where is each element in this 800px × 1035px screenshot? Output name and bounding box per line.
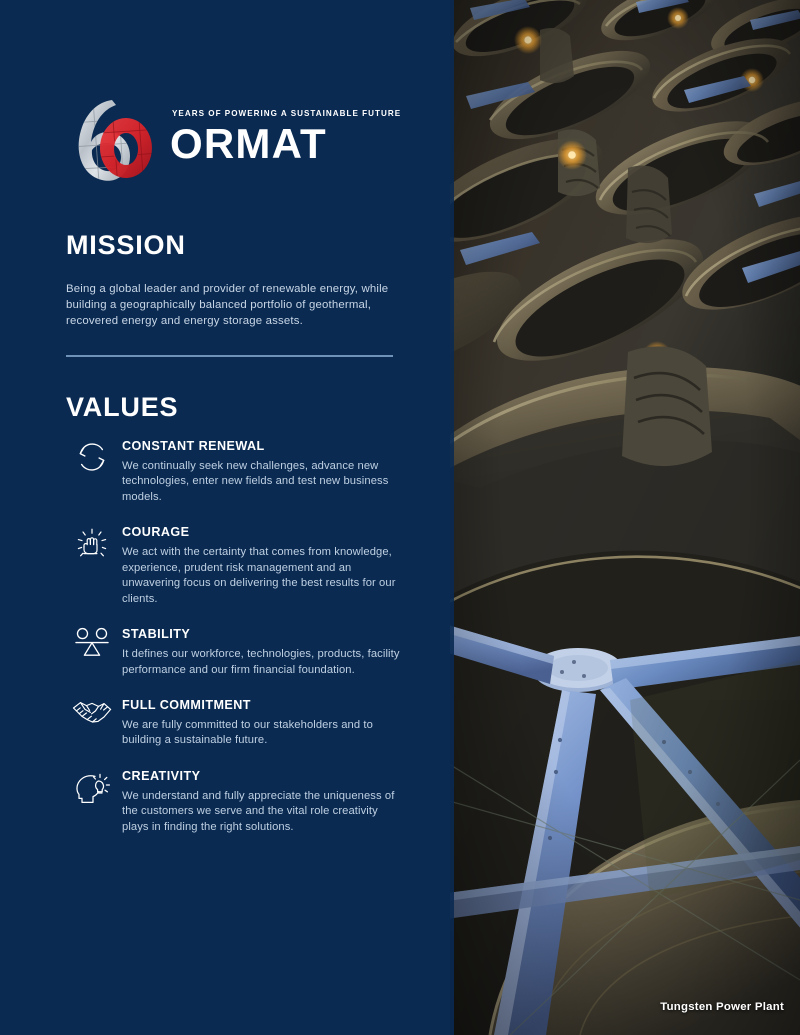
brochure-page: YEARS OF POWERING A SUSTAINABLE FUTURE O… <box>0 0 800 1035</box>
left-content-panel: YEARS OF POWERING A SUSTAINABLE FUTURE O… <box>0 0 450 1035</box>
value-title: STABILITY <box>122 628 402 641</box>
value-item-courage: COURAGE We act with the certainty that c… <box>62 522 402 607</box>
mission-heading: MISSION <box>66 232 186 259</box>
logo-wordmark: ORMAT <box>170 122 406 166</box>
values-list: CONSTANT RENEWAL We continually seek new… <box>62 436 402 852</box>
balance-scale-icon <box>62 624 122 670</box>
photo-caption: Tungsten Power Plant <box>660 1001 784 1013</box>
logo-text-block: YEARS OF POWERING A SUSTAINABLE FUTURE O… <box>170 110 406 166</box>
anniversary-60-icon <box>66 96 162 184</box>
value-body: CONSTANT RENEWAL We continually seek new… <box>122 436 402 505</box>
value-item-stability: STABILITY It defines our workforce, tech… <box>62 624 402 678</box>
value-description: We are fully committed to our stakeholde… <box>122 718 402 749</box>
head-lightbulb-icon <box>62 766 122 812</box>
value-body: COURAGE We act with the certainty that c… <box>122 522 402 607</box>
value-title: FULL COMMITMENT <box>122 699 402 712</box>
value-body: FULL COMMITMENT We are fully committed t… <box>122 695 402 749</box>
circular-arrows-icon <box>62 436 122 482</box>
value-description: We act with the certainty that comes fro… <box>122 545 402 607</box>
value-description: We understand and fully appreciate the u… <box>122 789 402 836</box>
value-item-full-commitment: FULL COMMITMENT We are fully committed t… <box>62 695 402 749</box>
handshake-icon <box>62 695 122 741</box>
ormat-logo: YEARS OF POWERING A SUSTAINABLE FUTURE O… <box>66 96 406 184</box>
values-heading: VALUES <box>66 394 178 421</box>
value-item-constant-renewal: CONSTANT RENEWAL We continually seek new… <box>62 436 402 505</box>
value-title: COURAGE <box>122 526 402 539</box>
raised-fist-icon <box>62 522 122 568</box>
value-description: We continually seek new challenges, adva… <box>122 459 402 506</box>
mission-text: Being a global leader and provider of re… <box>66 281 396 330</box>
value-body: CREATIVITY We understand and fully appre… <box>122 766 402 835</box>
value-title: CREATIVITY <box>122 770 402 783</box>
photo-illustration <box>450 0 800 1035</box>
logo-tagline: YEARS OF POWERING A SUSTAINABLE FUTURE <box>170 110 406 118</box>
cooling-tower-fans-photo: Tungsten Power Plant <box>450 0 800 1035</box>
section-divider <box>66 355 393 357</box>
value-title: CONSTANT RENEWAL <box>122 440 402 453</box>
value-item-creativity: CREATIVITY We understand and fully appre… <box>62 766 402 835</box>
value-description: It defines our workforce, technologies, … <box>122 647 402 678</box>
value-body: STABILITY It defines our workforce, tech… <box>122 624 402 678</box>
